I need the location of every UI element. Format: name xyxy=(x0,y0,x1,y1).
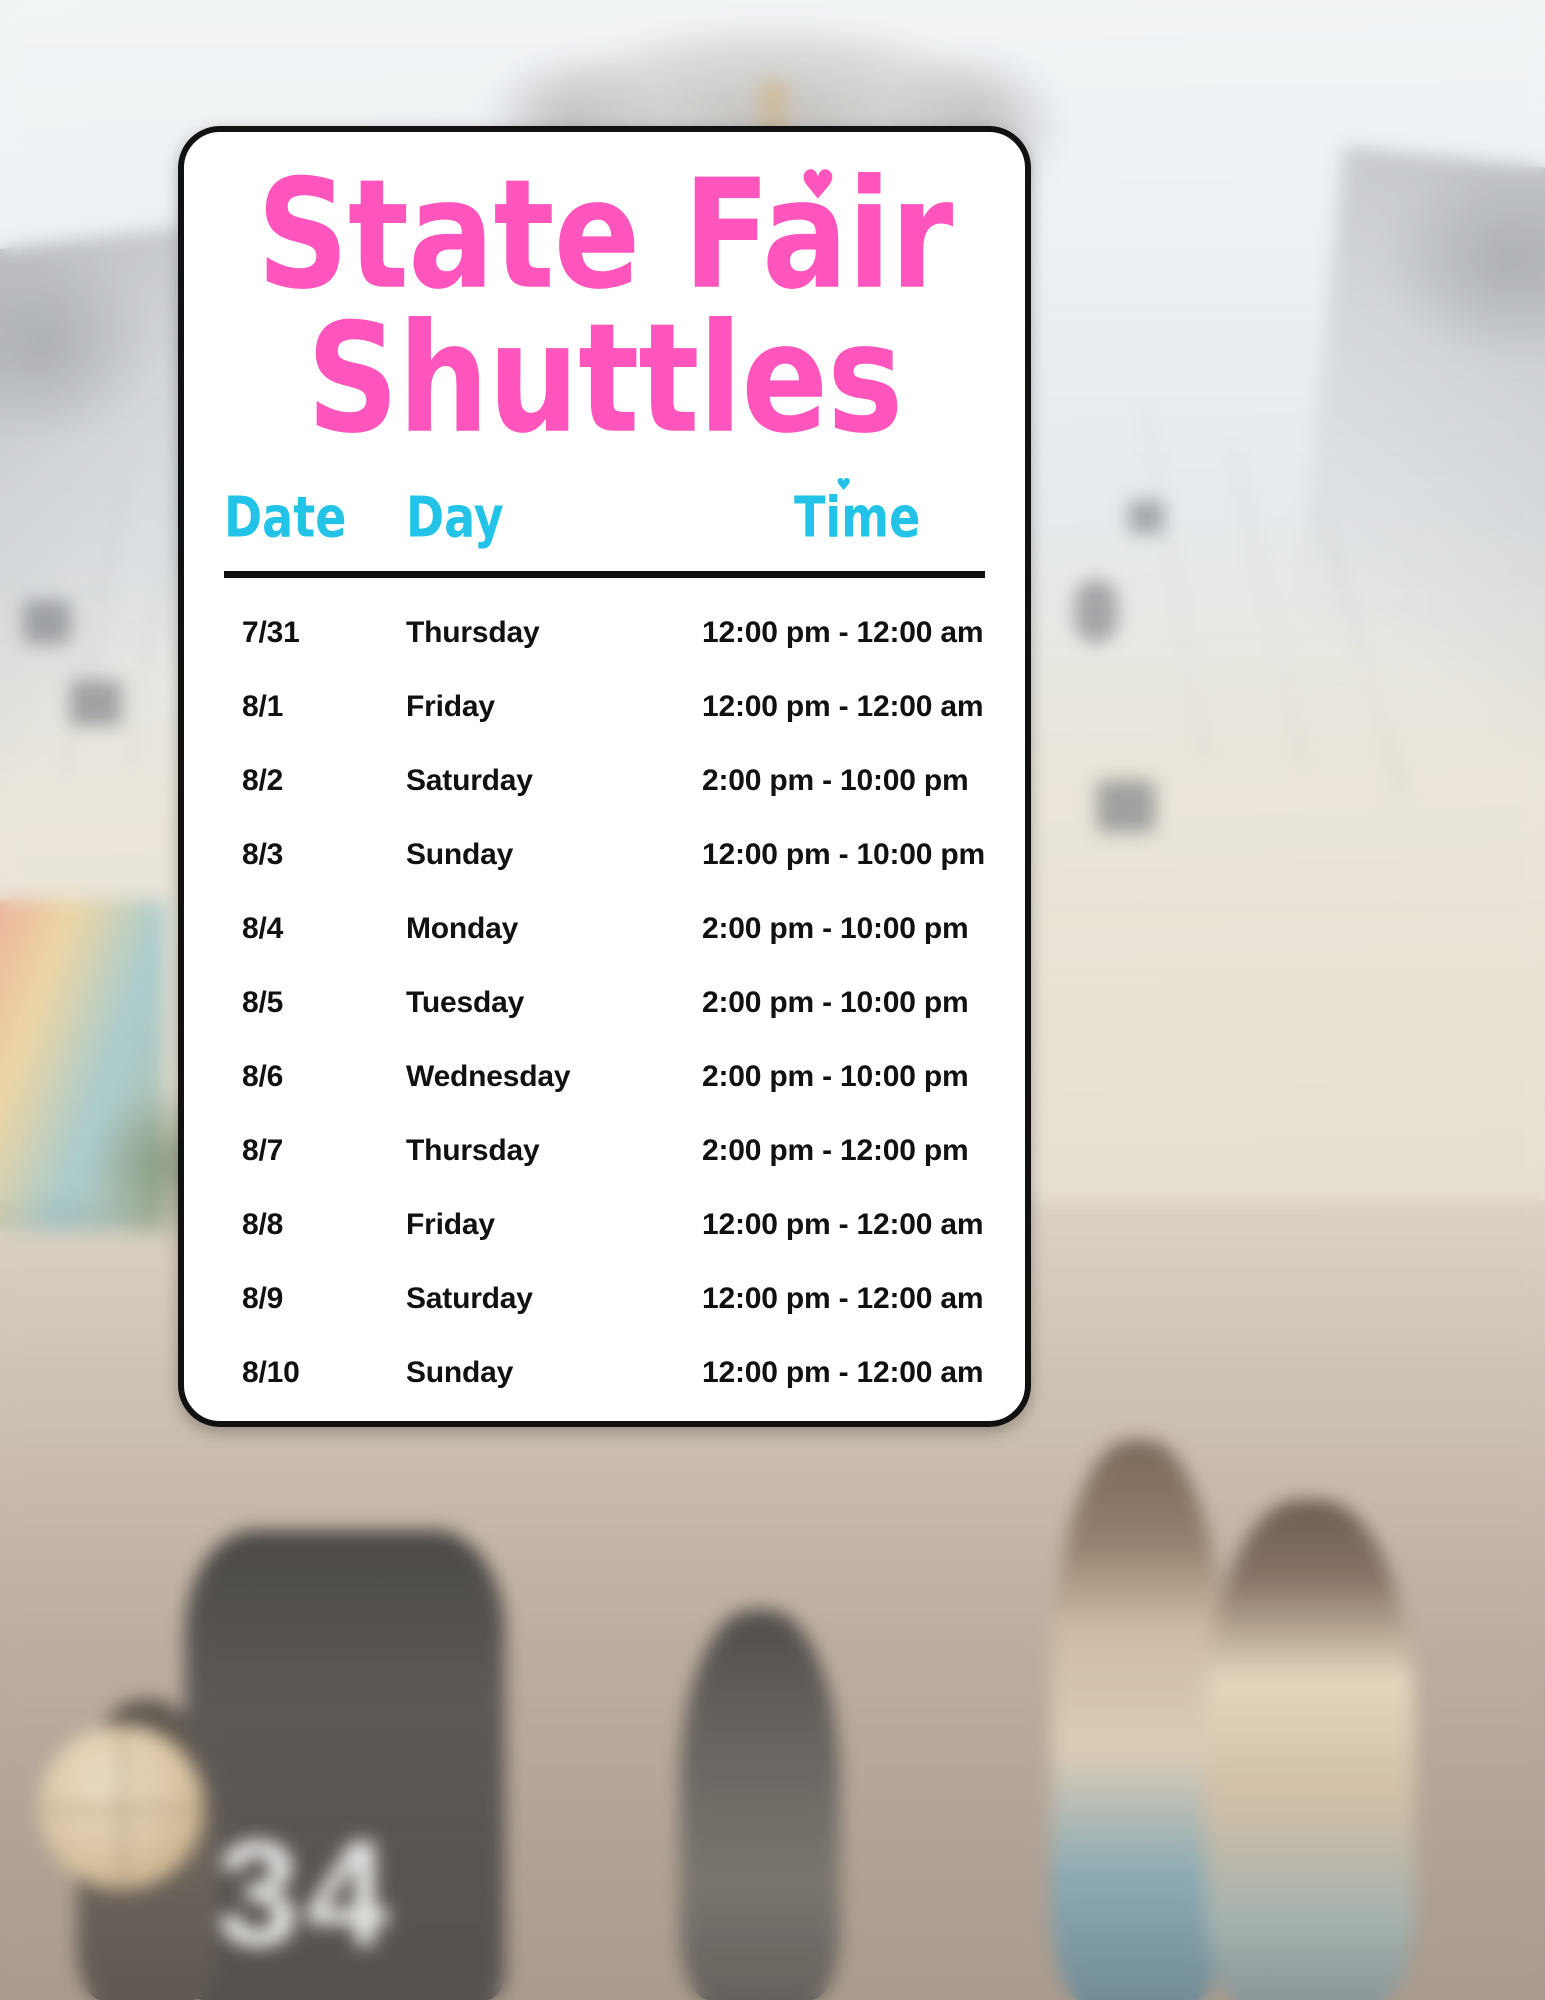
cell-date: 7/31 xyxy=(224,616,406,650)
cell-day: Friday xyxy=(406,1208,644,1242)
table-row: 8/3Sunday12:00 pm - 10:00 pm xyxy=(224,838,985,912)
cell-date: 8/4 xyxy=(224,912,406,946)
table-row: 8/7Thursday2:00 pm - 12:00 pm xyxy=(224,1134,985,1208)
title-line-2: Shuttles xyxy=(218,308,991,451)
cell-day: Sunday xyxy=(406,1356,644,1390)
column-header-day: Day xyxy=(406,489,504,545)
table-body: 7/31Thursday12:00 pm - 12:00 am8/1Friday… xyxy=(224,616,985,1427)
cell-time: 12:00 pm - 12:00 am xyxy=(644,1356,985,1390)
column-header-date: Date xyxy=(224,489,346,545)
cell-day: Monday xyxy=(406,912,644,946)
cell-day: Thursday xyxy=(406,616,644,650)
cell-day: Thursday xyxy=(406,1134,644,1168)
cell-date: 8/10 xyxy=(224,1356,406,1390)
cell-time: 12:00 pm - 12:00 am xyxy=(644,690,985,724)
table-row: 7/31Thursday12:00 pm - 12:00 am xyxy=(224,616,985,690)
column-header-time-text: Time xyxy=(794,484,920,550)
poster-title: State Fair ♥ Shuttles xyxy=(184,132,1025,429)
cell-day: Saturday xyxy=(406,764,644,798)
column-header-date-wrap: Date xyxy=(224,499,406,545)
cell-time: 12:00 pm - 12:00 am xyxy=(644,1208,985,1242)
cell-day: Wednesday xyxy=(406,1060,644,1094)
cell-day: Sunday xyxy=(406,838,644,872)
table-row: 8/10Sunday12:00 pm - 12:00 am xyxy=(224,1356,985,1427)
cell-time: 12:00 pm - 12:00 am xyxy=(644,616,985,650)
heart-icon: ♥ xyxy=(836,478,851,495)
cell-date: 8/8 xyxy=(224,1208,406,1242)
table-row: 8/8Friday12:00 pm - 12:00 am xyxy=(224,1208,985,1282)
table-row: 8/5Tuesday2:00 pm - 10:00 pm xyxy=(224,986,985,1060)
cell-date: 8/6 xyxy=(224,1060,406,1094)
cell-time: 12:00 pm - 10:00 pm xyxy=(644,838,985,872)
cell-time: 2:00 pm - 10:00 pm xyxy=(644,764,985,798)
schedule-table: Date Day Time ♥ 7/31Thursday12:00 pm - 1… xyxy=(224,499,985,1427)
table-row: 8/4Monday2:00 pm - 10:00 pm xyxy=(224,912,985,986)
table-row: 8/9Saturday12:00 pm - 12:00 am xyxy=(224,1282,985,1356)
cell-day: Saturday xyxy=(406,1282,644,1316)
table-row: 8/2Saturday2:00 pm - 10:00 pm xyxy=(224,764,985,838)
cell-date: 8/2 xyxy=(224,764,406,798)
cell-date: 8/7 xyxy=(224,1134,406,1168)
cell-time: 2:00 pm - 12:00 pm xyxy=(644,1134,985,1168)
cell-day: Friday xyxy=(406,690,644,724)
cell-date: 8/9 xyxy=(224,1282,406,1316)
table-row: 8/6Wednesday2:00 pm - 10:00 pm xyxy=(224,1060,985,1134)
cell-time: 2:00 pm - 10:00 pm xyxy=(644,1060,985,1094)
column-header-time-wrap: Time ♥ xyxy=(644,499,985,545)
title-line-1: State Fair ♥ xyxy=(218,164,991,307)
cell-date: 8/3 xyxy=(224,838,406,872)
table-header-row: Date Day Time ♥ xyxy=(224,499,985,545)
heart-icon: ♥ xyxy=(800,165,835,205)
cell-time: 12:00 pm - 12:00 am xyxy=(644,1282,985,1316)
header-divider xyxy=(224,571,985,578)
cell-date: 8/1 xyxy=(224,690,406,724)
cell-time: 2:00 pm - 10:00 pm xyxy=(644,986,985,1020)
cell-time: 2:00 pm - 10:00 pm xyxy=(644,912,985,946)
table-row: 8/1Friday12:00 pm - 12:00 am xyxy=(224,690,985,764)
column-header-time: Time ♥ xyxy=(794,489,920,545)
cell-date: 8/5 xyxy=(224,986,406,1020)
poster-card: State Fair ♥ Shuttles Date Day Time ♥ 7/… xyxy=(178,126,1031,1427)
cell-day: Tuesday xyxy=(406,986,644,1020)
column-header-day-wrap: Day xyxy=(406,499,644,545)
